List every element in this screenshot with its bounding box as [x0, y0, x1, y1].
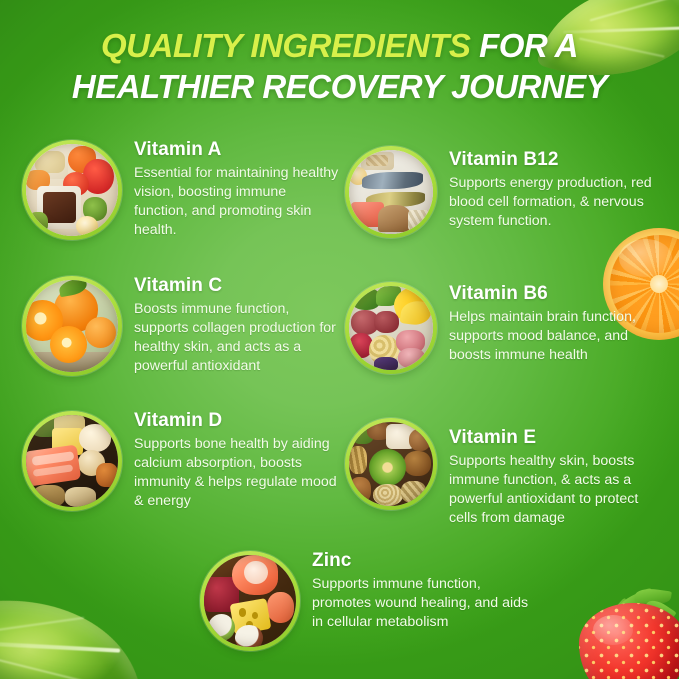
nutrient-title: Vitamin A — [134, 140, 342, 161]
nutrient-title: Vitamin B6 — [449, 284, 665, 305]
nutrient-card-vitamin-e: Vitamin E Supports healthy skin, boosts … — [345, 418, 670, 528]
nutrient-description: Supports energy production, red blood ce… — [449, 174, 665, 231]
vitamin-d-food-photo — [22, 411, 122, 511]
nutrient-description: Helps maintain brain function, supports … — [449, 308, 665, 365]
nutrient-card-vitamin-b6: Vitamin B6 Helps maintain brain function… — [345, 282, 665, 374]
nutrient-description: Supports healthy skin, boosts immune fun… — [449, 452, 670, 528]
nutrient-title: Vitamin C — [134, 276, 347, 297]
nutrient-grid: Vitamin A Essential for maintaining heal… — [0, 0, 679, 679]
vitamin-b6-food-photo — [345, 282, 437, 374]
nutrient-card-vitamin-c: Vitamin C Boosts immune function, suppor… — [22, 276, 347, 376]
nutrient-description: Supports immune function, promotes wound… — [312, 575, 540, 632]
nutrient-card-zinc: Zinc Supports immune function, promotes … — [200, 551, 540, 651]
nutrient-title: Zinc — [312, 551, 540, 572]
nutrient-title: Vitamin B12 — [449, 150, 665, 171]
nutrient-card-vitamin-a: Vitamin A Essential for maintaining heal… — [22, 140, 342, 240]
nutrient-description: Essential for maintaining healthy vision… — [134, 164, 342, 240]
nutrient-title: Vitamin E — [449, 428, 670, 449]
nutrient-card-vitamin-d: Vitamin D Supports bone health by aiding… — [22, 411, 347, 511]
nutrient-description: Boosts immune function, supports collage… — [134, 300, 347, 376]
vitamin-a-food-photo — [22, 140, 122, 240]
vitamin-e-food-photo — [345, 418, 437, 510]
vitamin-c-food-photo — [22, 276, 122, 376]
nutrient-title: Vitamin D — [134, 411, 347, 432]
nutrient-card-vitamin-b12: Vitamin B12 Supports energy production, … — [345, 146, 665, 238]
zinc-food-photo — [200, 551, 300, 651]
vitamin-b12-food-photo — [345, 146, 437, 238]
nutrient-description: Supports bone health by aiding calcium a… — [134, 435, 347, 511]
